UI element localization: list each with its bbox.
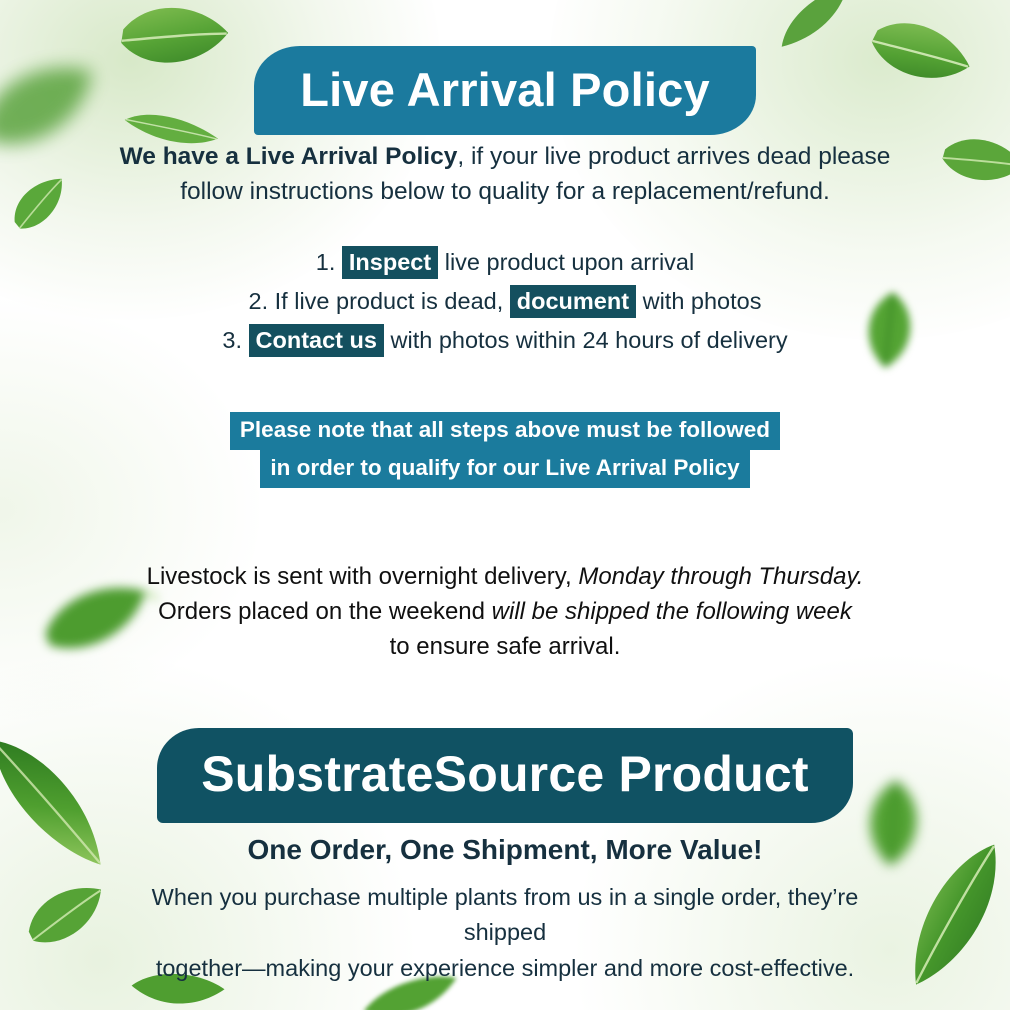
- product-body-paragraph: When you purchase multiple plants from u…: [0, 880, 1010, 986]
- list-item: 2. If live product is dead, document wit…: [0, 288, 1010, 315]
- product-body-line2: together—making your experience simpler …: [156, 955, 854, 981]
- step-highlight-inspect: Inspect: [342, 246, 438, 279]
- shipping-line3: to ensure safe arrival.: [390, 633, 621, 660]
- step-pre-text: If live product is dead,: [275, 288, 504, 314]
- substratesource-product-banner-title: SubstrateSource Product: [157, 728, 853, 823]
- step-number: 1.: [316, 249, 336, 275]
- step-post-text: with photos within 24 hours of delivery: [391, 327, 788, 353]
- policy-intro-paragraph: We have a Live Arrival Policy, if your l…: [0, 140, 1010, 210]
- live-arrival-policy-infographic: Live Arrival Policy We have a Live Arriv…: [0, 0, 1010, 1010]
- shipping-line2-italic: will be shipped the following week: [492, 598, 852, 625]
- policy-note-callout: Please note that all steps above must be…: [0, 412, 1010, 488]
- shipping-schedule-paragraph: Livestock is sent with overnight deliver…: [0, 560, 1010, 664]
- step-highlight-contact-us: Contact us: [249, 324, 384, 357]
- policy-note-line-1: Please note that all steps above must be…: [230, 412, 780, 450]
- policy-intro-bold: We have a Live Arrival Policy: [120, 143, 458, 170]
- product-body-line1: When you purchase multiple plants from u…: [152, 884, 859, 945]
- step-number: 2.: [249, 288, 269, 314]
- list-item: 1. Inspect live product upon arrival: [0, 249, 1010, 276]
- step-post-text: live product upon arrival: [445, 249, 695, 275]
- substratesource-product-banner: SubstrateSource Product: [0, 728, 1010, 823]
- step-number: 3.: [222, 327, 242, 353]
- shipping-line1-italic: Monday through Thursday.: [578, 563, 863, 590]
- step-highlight-document: document: [510, 285, 636, 318]
- live-arrival-policy-banner-title: Live Arrival Policy: [254, 46, 756, 135]
- policy-steps-list: 1. Inspect live product upon arrival 2. …: [0, 249, 1010, 366]
- shipping-line2-pre: Orders placed on the weekend: [158, 598, 485, 625]
- product-subheading: One Order, One Shipment, More Value!: [0, 834, 1010, 866]
- policy-note-line-2: in order to qualify for our Live Arrival…: [260, 450, 749, 488]
- shipping-line1-pre: Livestock is sent with overnight deliver…: [147, 563, 572, 590]
- step-post-text: with photos: [643, 288, 762, 314]
- list-item: 3. Contact us with photos within 24 hour…: [0, 327, 1010, 354]
- live-arrival-policy-banner: Live Arrival Policy: [0, 46, 1010, 135]
